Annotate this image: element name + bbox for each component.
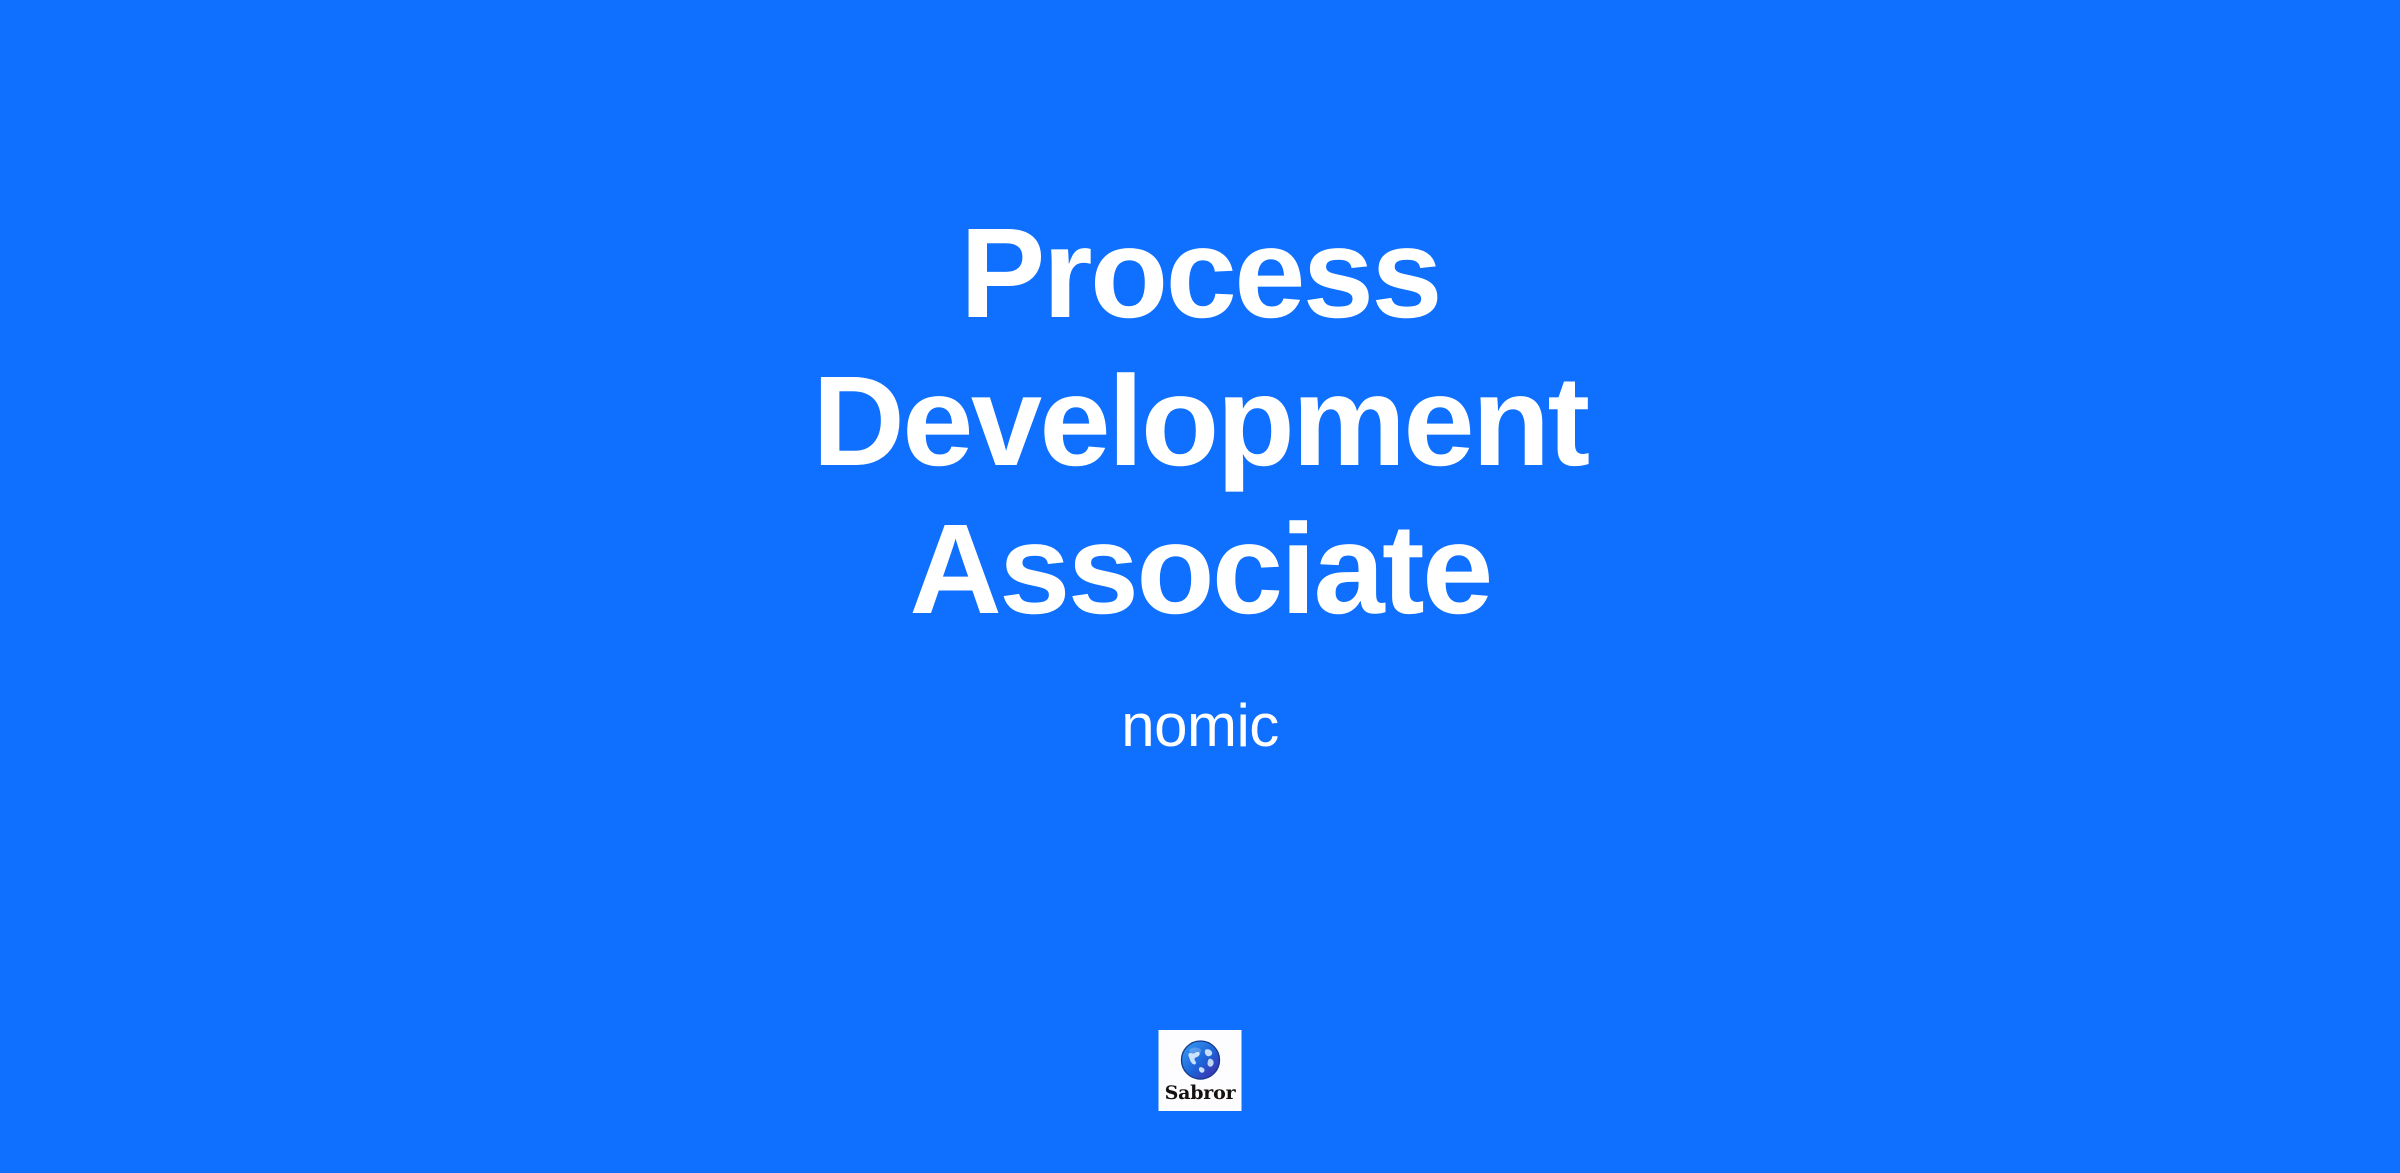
globe-americas-icon	[1179, 1039, 1221, 1081]
company-name: nomic	[1121, 644, 1279, 760]
brand-logo[interactable]: Sabror	[1159, 1030, 1242, 1111]
brand-wordmark: Sabror	[1165, 1082, 1236, 1104]
brand-logo-container[interactable]: Sabror	[1159, 1030, 1242, 1111]
splash-screen: Process Development Associate nomic	[0, 0, 2400, 1173]
hero-section: Process Development Associate nomic	[0, 0, 2400, 960]
page-title: Process Development Associate	[580, 200, 1820, 644]
